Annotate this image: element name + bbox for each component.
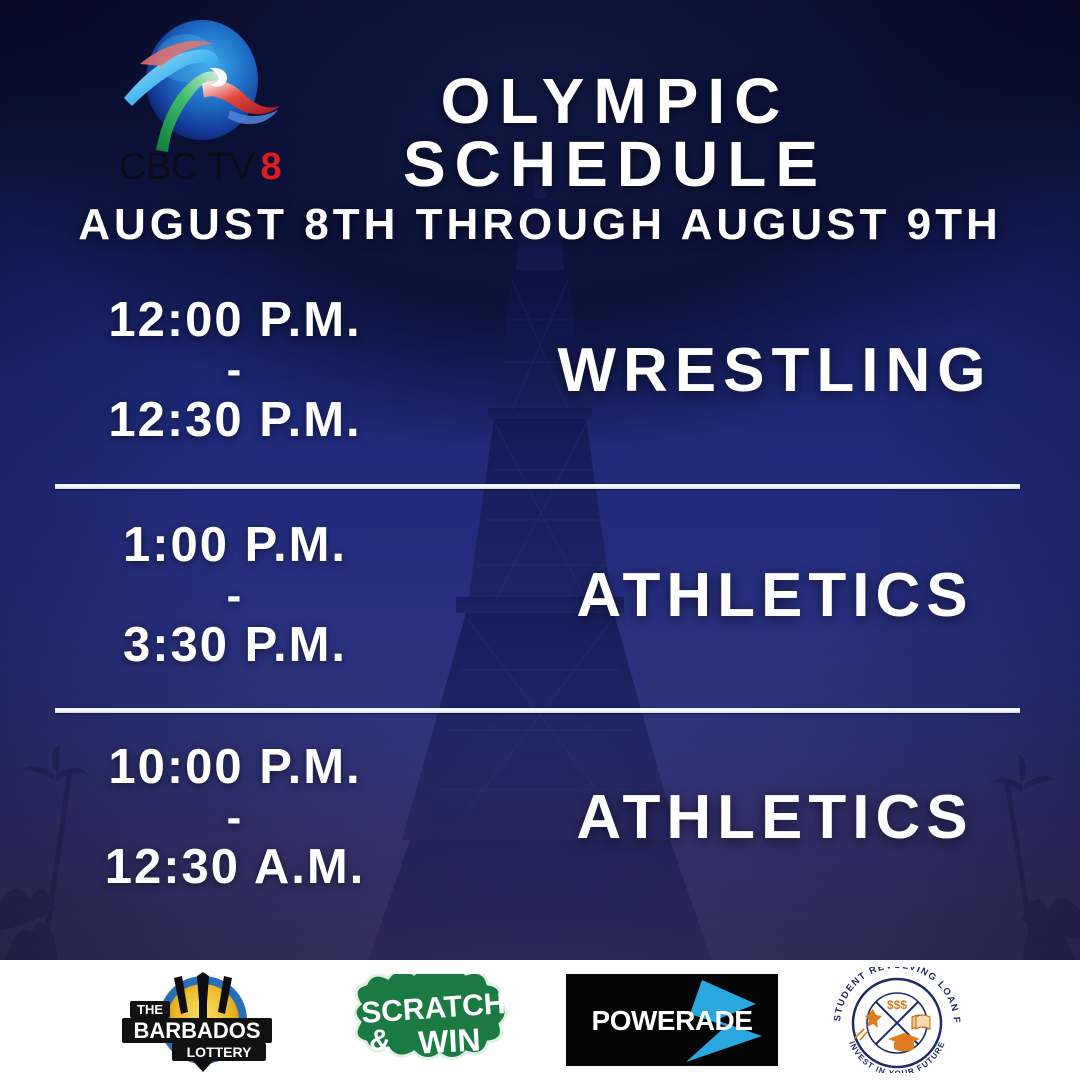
page-title-line-2: SCHEDULE	[150, 133, 1080, 196]
student-revolving-loan-fund-logo: THE STUDENT REVOLVING LOAN FUND INVEST I…	[822, 967, 972, 1073]
event-name: WRESTLING	[470, 335, 1080, 406]
sponsor-powerade: POWERADE	[566, 968, 778, 1072]
powerade-logo: POWERADE	[566, 974, 778, 1066]
date-range-subtitle: AUGUST 8TH THROUGH AUGUST 9TH	[0, 200, 1080, 250]
schedule-row: 10:00 P.M. - 12:30 A.M. ATHLETICS	[0, 725, 1080, 910]
event-name: ATHLETICS	[470, 560, 1080, 631]
lottery-line-1: THE	[137, 1002, 163, 1017]
schedule-time-block: 10:00 P.M. - 12:30 A.M.	[0, 736, 470, 899]
sponsor-student-revolving-loan-fund: THE STUDENT REVOLVING LOAN FUND INVEST I…	[822, 968, 972, 1072]
row-divider	[55, 484, 1020, 489]
schedule-time-block: 12:00 P.M. - 12:30 P.M.	[0, 289, 470, 452]
powerade-wordmark: POWERADE	[592, 1005, 753, 1036]
time-separator: -	[0, 351, 470, 388]
barbados-lottery-logo: THE BARBADOS LOTTERY	[108, 968, 298, 1072]
poster-header: OLYMPIC SCHEDULE	[0, 70, 1080, 195]
scratch-line-2: &	[369, 1024, 391, 1057]
event-name: ATHLETICS	[470, 782, 1080, 853]
schedule-list: 12:00 P.M. - 12:30 P.M. WRESTLING 1:00 P…	[0, 275, 1080, 960]
scratch-line-3: WIN	[417, 1021, 481, 1060]
row-divider	[55, 708, 1020, 713]
sponsor-barbados-lottery: THE BARBADOS LOTTERY	[108, 968, 298, 1072]
schedule-row: 12:00 P.M. - 12:30 P.M. WRESTLING	[0, 275, 1080, 465]
start-time: 1:00 P.M.	[123, 518, 347, 572]
lottery-line-3: LOTTERY	[187, 1044, 252, 1060]
end-time: 12:30 P.M.	[108, 393, 361, 447]
start-time: 10:00 P.M.	[108, 740, 361, 794]
start-time: 12:00 P.M.	[108, 293, 361, 347]
time-separator: -	[0, 577, 470, 614]
end-time: 12:30 A.M.	[105, 840, 366, 894]
olympic-schedule-poster: CBC TV8 OLYMPIC SCHEDULE AUGUST 8TH THRO…	[0, 0, 1080, 1080]
book-icon	[912, 1015, 930, 1029]
sponsor-scratch-and-win: SCRATCH & WIN	[342, 968, 522, 1072]
schedule-time-block: 1:00 P.M. - 3:30 P.M.	[0, 514, 470, 677]
money-icon: $$$	[887, 998, 907, 1012]
lottery-line-2: BARBADOS	[133, 1018, 260, 1043]
schedule-row: 1:00 P.M. - 3:30 P.M. ATHLETICS	[0, 503, 1080, 688]
scratch-and-win-logo: SCRATCH & WIN	[342, 974, 522, 1066]
sponsor-bar: THE BARBADOS LOTTERY SCRATCH & WIN	[0, 960, 1080, 1080]
page-title-line-1: OLYMPIC	[150, 70, 1080, 133]
end-time: 3:30 P.M.	[123, 618, 347, 672]
time-separator: -	[0, 799, 470, 836]
